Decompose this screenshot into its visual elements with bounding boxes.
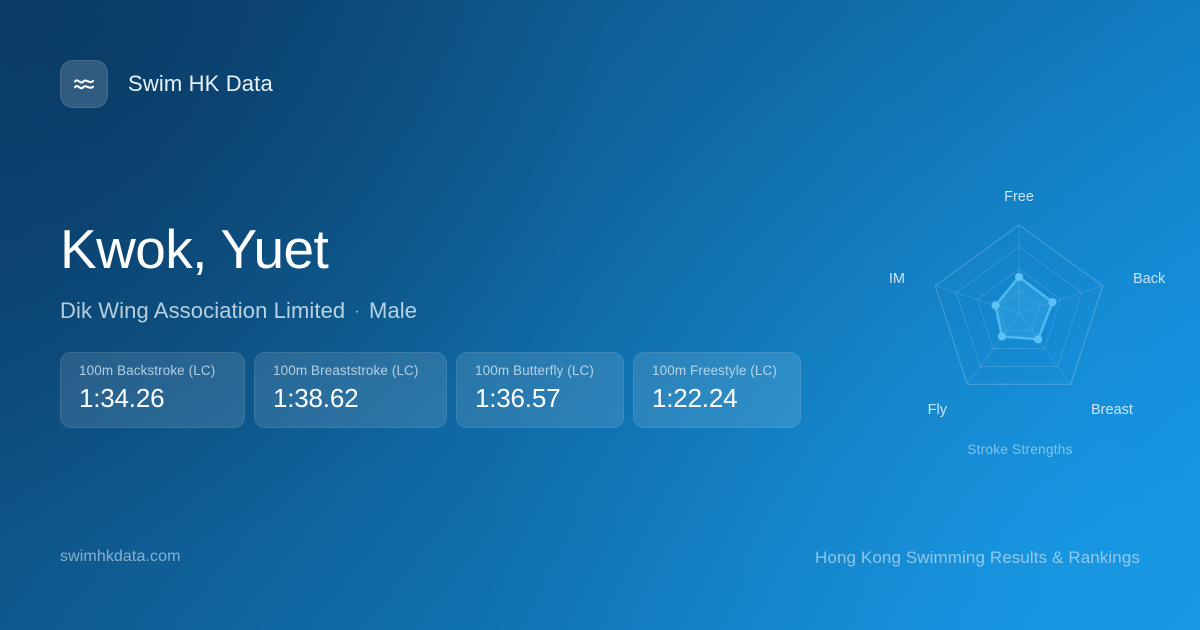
meta-separator: · — [354, 301, 360, 321]
stat-card[interactable]: 100m Butterfly (LC) 1:36.57 — [456, 352, 624, 428]
brand-header[interactable]: Swim HK Data — [60, 60, 273, 108]
best-times-cards: 100m Backstroke (LC) 1:34.26 100m Breast… — [60, 352, 801, 428]
stat-card[interactable]: 100m Breaststroke (LC) 1:38.62 — [254, 352, 447, 428]
radar-axis-label-im: IM — [889, 271, 905, 287]
stat-card-label: 100m Breaststroke (LC) — [273, 363, 428, 378]
stroke-strengths-radar: Free Back Breast Fly IM Stroke Strengths — [870, 165, 1170, 475]
radar-axis-label-fly: Fly — [928, 402, 947, 418]
stat-card-value: 1:36.57 — [475, 383, 605, 414]
athlete-meta: Dik Wing Association Limited · Male — [60, 298, 417, 324]
brand-name: Swim HK Data — [128, 71, 273, 97]
share-card: Swim HK Data Kwok, Yuet Dik Wing Associa… — [0, 0, 1200, 630]
radar-axis-label-free: Free — [1004, 189, 1034, 205]
radar-axis-label-back: Back — [1133, 271, 1165, 287]
athlete-club: Dik Wing Association Limited — [60, 298, 345, 324]
radar-chart-svg — [870, 165, 1170, 465]
footer-site-url: swimhkdata.com — [60, 548, 181, 566]
stat-card-value: 1:22.24 — [652, 383, 782, 414]
radar-series-area — [996, 277, 1053, 339]
athlete-hero: Kwok, Yuet Dik Wing Association Limited … — [60, 222, 417, 324]
stat-card[interactable]: 100m Freestyle (LC) 1:22.24 — [633, 352, 801, 428]
stat-card-label: 100m Freestyle (LC) — [652, 363, 782, 378]
stat-card-label: 100m Backstroke (LC) — [79, 363, 226, 378]
stat-card-value: 1:34.26 — [79, 383, 226, 414]
stat-card-label: 100m Butterfly (LC) — [475, 363, 605, 378]
athlete-gender: Male — [369, 298, 417, 324]
wave-icon — [60, 60, 108, 108]
footer-tagline: Hong Kong Swimming Results & Rankings — [815, 548, 1140, 568]
page-title: Kwok, Yuet — [60, 222, 417, 277]
radar-caption: Stroke Strengths — [870, 442, 1170, 457]
radar-axis-label-breast: Breast — [1091, 402, 1133, 418]
stat-card[interactable]: 100m Backstroke (LC) 1:34.26 — [60, 352, 245, 428]
stat-card-value: 1:38.62 — [273, 383, 428, 414]
